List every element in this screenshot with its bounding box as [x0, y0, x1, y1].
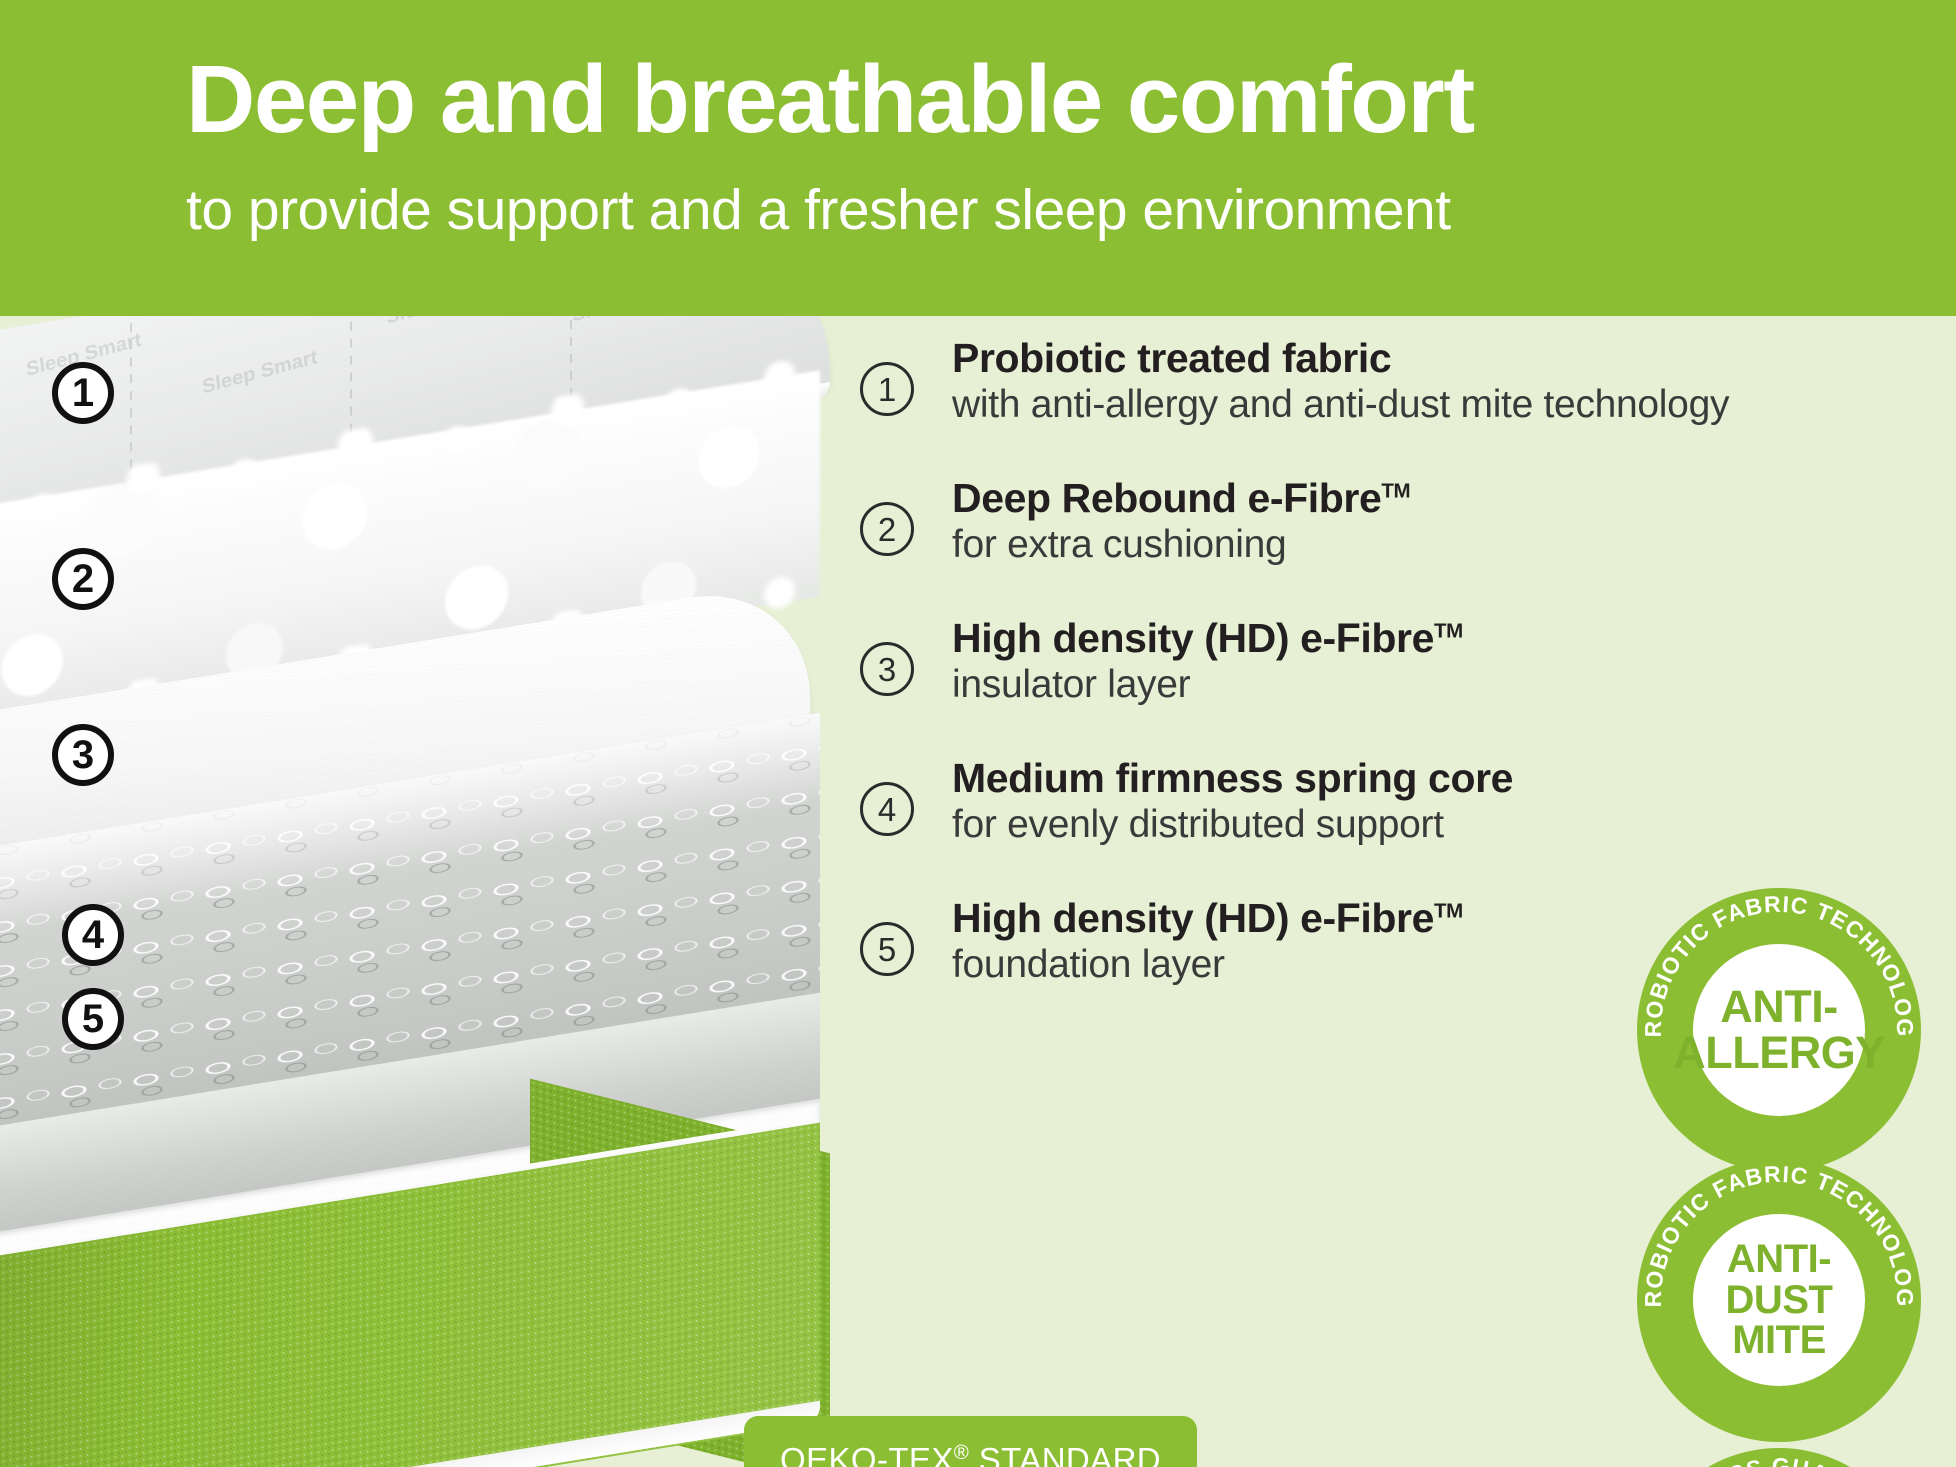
feature-subtitle-1: with anti-allergy and anti-dust mite tec… [952, 382, 1860, 428]
layer-bubble-4: 4 [62, 904, 124, 966]
feature-title-1: Probiotic treated fabric [952, 336, 1860, 382]
feature-item-1: 1 Probiotic treated fabric with anti-all… [860, 336, 1860, 436]
fabric-watermark: Sleep Smart [201, 346, 318, 399]
feature-item-2: 2 Deep Rebound e-FibreTM for extra cushi… [860, 476, 1860, 576]
feature-title-2: Deep Rebound e-FibreTM [952, 476, 1860, 522]
trademark-symbol: TM [1434, 619, 1463, 642]
content-stage: Sleep Smart Sleep Smart Sleep Smart Slee… [0, 316, 1956, 1467]
badge-center-line-1: ANTI-DUST [1693, 1239, 1865, 1321]
badge-center-line-2: MITE [1732, 1320, 1826, 1361]
feature-subtitle-4: for evenly distributed support [952, 802, 1860, 848]
fabric-watermark: Sleep Smart [571, 316, 688, 328]
feature-number-4: 4 [860, 782, 914, 836]
feature-subtitle-3: insulator layer [952, 662, 1860, 708]
feature-number-3: 3 [860, 642, 914, 696]
layer-bubble-3: 3 [52, 724, 114, 786]
trademark-symbol: TM [1434, 899, 1463, 922]
badge-center: ANTI- ALLERGY [1693, 944, 1865, 1116]
feature-number-1: 1 [860, 362, 914, 416]
page-title: Deep and breathable comfort [186, 52, 1474, 148]
feature-title-4: Medium firmness spring core [952, 756, 1860, 802]
badge-center: ANTI-DUST MITE [1693, 1214, 1865, 1386]
badge-center-line-2: ALLERGY [1673, 1030, 1885, 1076]
badge-center-line-1: ANTI- [1720, 984, 1837, 1030]
feature-number-5: 5 [860, 922, 914, 976]
feature-item-3: 3 High density (HD) e-FibreTM insulator … [860, 616, 1860, 716]
badge-anti-allergy: PROBIOTIC FABRIC TECHNOLOGY ANTI- ALLERG… [1637, 888, 1921, 1172]
page-header: Deep and breathable comfort to provide s… [0, 0, 1956, 316]
svg-text:MATTRESS GUARANTEE: MATTRESS GUARANTEE [1648, 1453, 1910, 1467]
feature-title-3: High density (HD) e-FibreTM [952, 616, 1860, 662]
badge-anti-dust-mite: PROBIOTIC FABRIC TECHNOLOGY ANTI-DUST MI… [1637, 1158, 1921, 1442]
callout-oeko-tex: OEKO-TEX® STANDARD 100 CERTIFIED FABRIC [744, 1416, 1197, 1467]
feature-subtitle-2: for extra cushioning [952, 522, 1860, 568]
trademark-symbol: TM [1381, 479, 1410, 502]
mattress-exploded-diagram: Sleep Smart Sleep Smart Sleep Smart Slee… [0, 316, 860, 1466]
badge-mattress-guarantee: MATTRESS GUARANTEE FOR YOUR PEACE OF MIN… [1637, 1448, 1921, 1467]
layer-bubble-5: 5 [62, 988, 124, 1050]
feature-item-4: 4 Medium firmness spring core for evenly… [860, 756, 1860, 856]
badge-arc-label-top: MATTRESS GUARANTEE [1648, 1453, 1910, 1467]
page-subtitle: to provide support and a fresher sleep e… [186, 182, 1451, 239]
fabric-watermark: Sleep Smart [385, 316, 502, 330]
badge-arc-text: MATTRESS GUARANTEE FOR YOUR PEACE OF MIN… [1637, 1448, 1921, 1467]
feature-number-2: 2 [860, 502, 914, 556]
layer-bubble-2: 2 [52, 548, 114, 610]
layer-bubble-1: 1 [52, 362, 114, 424]
callout-oeko-tex-line-1: OEKO-TEX® STANDARD [780, 1438, 1161, 1467]
